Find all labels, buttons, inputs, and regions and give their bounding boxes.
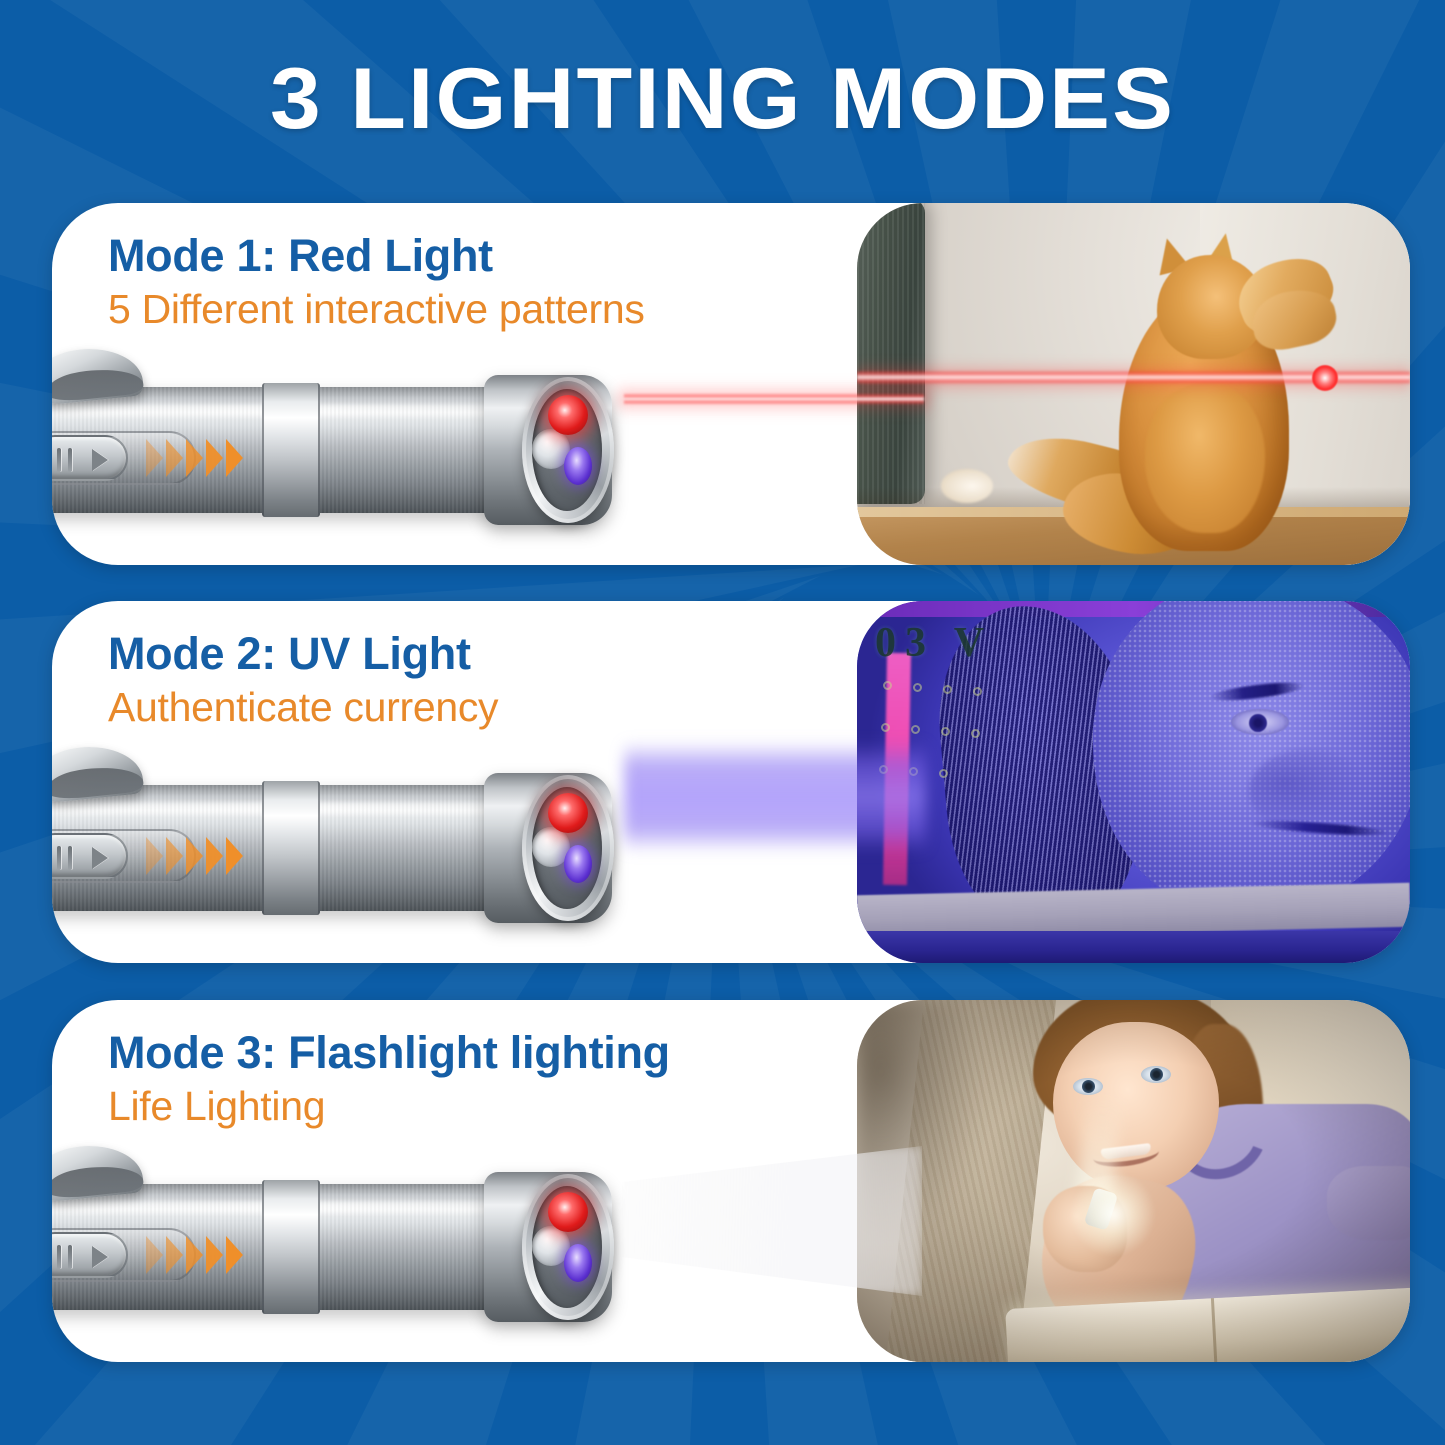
mode-1-text-block: Mode 1: Red Light 5 Different interactiv…: [108, 231, 645, 334]
mode-2-text-block: Mode 2: UV Light Authenticate currency: [108, 629, 498, 732]
mode-card-2-clip: 03 V: [52, 601, 1410, 963]
chevron-right-icon: [166, 1236, 183, 1274]
chevron-right-icon: [146, 439, 163, 477]
microprint-dot: [971, 729, 980, 738]
laser-pointer-flashlight: [52, 749, 624, 945]
franklin-face: [1093, 601, 1410, 909]
microprint-dot: [939, 769, 948, 778]
microprint-dot: [943, 685, 952, 694]
microprint-dot: [881, 723, 890, 732]
laser-pointer-flashlight: [52, 1148, 624, 1344]
cat-chest: [1145, 383, 1265, 533]
chevron-right-icon: [146, 1236, 163, 1274]
laser-dot: [1312, 365, 1338, 391]
green-curtain: [857, 203, 925, 504]
chevron-right-icon: [226, 439, 243, 477]
knurled-center-ring: [262, 383, 320, 517]
red-laser-led: [548, 793, 588, 833]
chevron-right-icon: [186, 837, 203, 875]
chevron-right-icon: [206, 1236, 223, 1274]
chevron-right-icon: [166, 439, 183, 477]
microprint-dot: [973, 687, 982, 696]
white-flashlight-cone: [622, 1146, 922, 1296]
mode-2-title: Mode 2: UV Light: [108, 629, 498, 679]
microprint-dot: [913, 683, 922, 692]
uv-purple-led: [564, 845, 592, 883]
page-title: 3 LIGHTING MODES: [0, 56, 1445, 142]
play-triangle-icon: [92, 449, 108, 471]
uv-banknote-photo: 03 V: [857, 601, 1410, 963]
chevron-right-icon: [146, 837, 163, 875]
mode-1-subtitle: 5 Different interactive patterns: [108, 285, 645, 333]
chevron-right-icon: [226, 837, 243, 875]
red-laser-led: [548, 395, 588, 435]
orange-direction-arrows: [146, 837, 243, 875]
orange-direction-arrows: [146, 439, 243, 477]
cat-chasing-laser-photo: [857, 203, 1410, 565]
switch-grip-lines: [52, 846, 72, 870]
chevron-right-icon: [186, 1236, 203, 1274]
microprint-dot: [911, 725, 920, 734]
chevron-right-icon: [206, 439, 223, 477]
laser-pointer-flashlight: [52, 351, 624, 547]
slide-power-switch: [52, 435, 128, 481]
mode-3-title: Mode 3: Flashlight lighting: [108, 1028, 670, 1078]
switch-grip-lines: [52, 1245, 72, 1269]
knurled-center-ring: [262, 1180, 320, 1314]
orange-direction-arrows: [146, 1236, 243, 1274]
mode-2-subtitle: Authenticate currency: [108, 683, 498, 731]
knurled-center-ring: [262, 781, 320, 915]
chevron-right-icon: [226, 1236, 243, 1274]
uv-purple-led: [564, 1244, 592, 1282]
banknote-bottom-edge: [857, 931, 1410, 963]
mode-1-title: Mode 1: Red Light: [108, 231, 645, 281]
microprint-dot: [883, 681, 892, 690]
mode-card-3: Mode 3: Flashlight lighting Life Lightin…: [52, 1000, 1410, 1362]
mode-3-subtitle: Life Lighting: [108, 1082, 670, 1130]
chevron-right-icon: [186, 439, 203, 477]
microprint-dot: [941, 727, 950, 736]
banknote-serial-text: 03 V: [875, 619, 993, 667]
mode-card-2: 03 V: [52, 601, 1410, 963]
play-triangle-icon: [92, 847, 108, 869]
mode-card-1: Mode 1: Red Light 5 Different interactiv…: [52, 203, 1410, 565]
slide-power-switch: [52, 833, 128, 879]
uv-beam: [624, 741, 926, 853]
mode-3-text-block: Mode 3: Flashlight lighting Life Lightin…: [108, 1028, 670, 1131]
play-triangle-icon: [92, 1246, 108, 1268]
red-laser-led: [548, 1192, 588, 1232]
laser-beam: [624, 393, 924, 405]
franklin-pupil: [1249, 714, 1267, 732]
chevron-right-icon: [166, 837, 183, 875]
photo-vignette: [857, 1000, 1410, 1362]
mode-card-3-clip: Mode 3: Flashlight lighting Life Lightin…: [52, 1000, 1410, 1362]
cat-tail-tip: [941, 469, 993, 503]
switch-grip-lines: [52, 448, 72, 472]
girl-reading-under-blanket-photo: [857, 1000, 1410, 1362]
uv-purple-led: [564, 447, 592, 485]
chevron-right-icon: [206, 837, 223, 875]
slide-power-switch: [52, 1232, 128, 1278]
mode-card-1-clip: Mode 1: Red Light 5 Different interactiv…: [52, 203, 1410, 565]
